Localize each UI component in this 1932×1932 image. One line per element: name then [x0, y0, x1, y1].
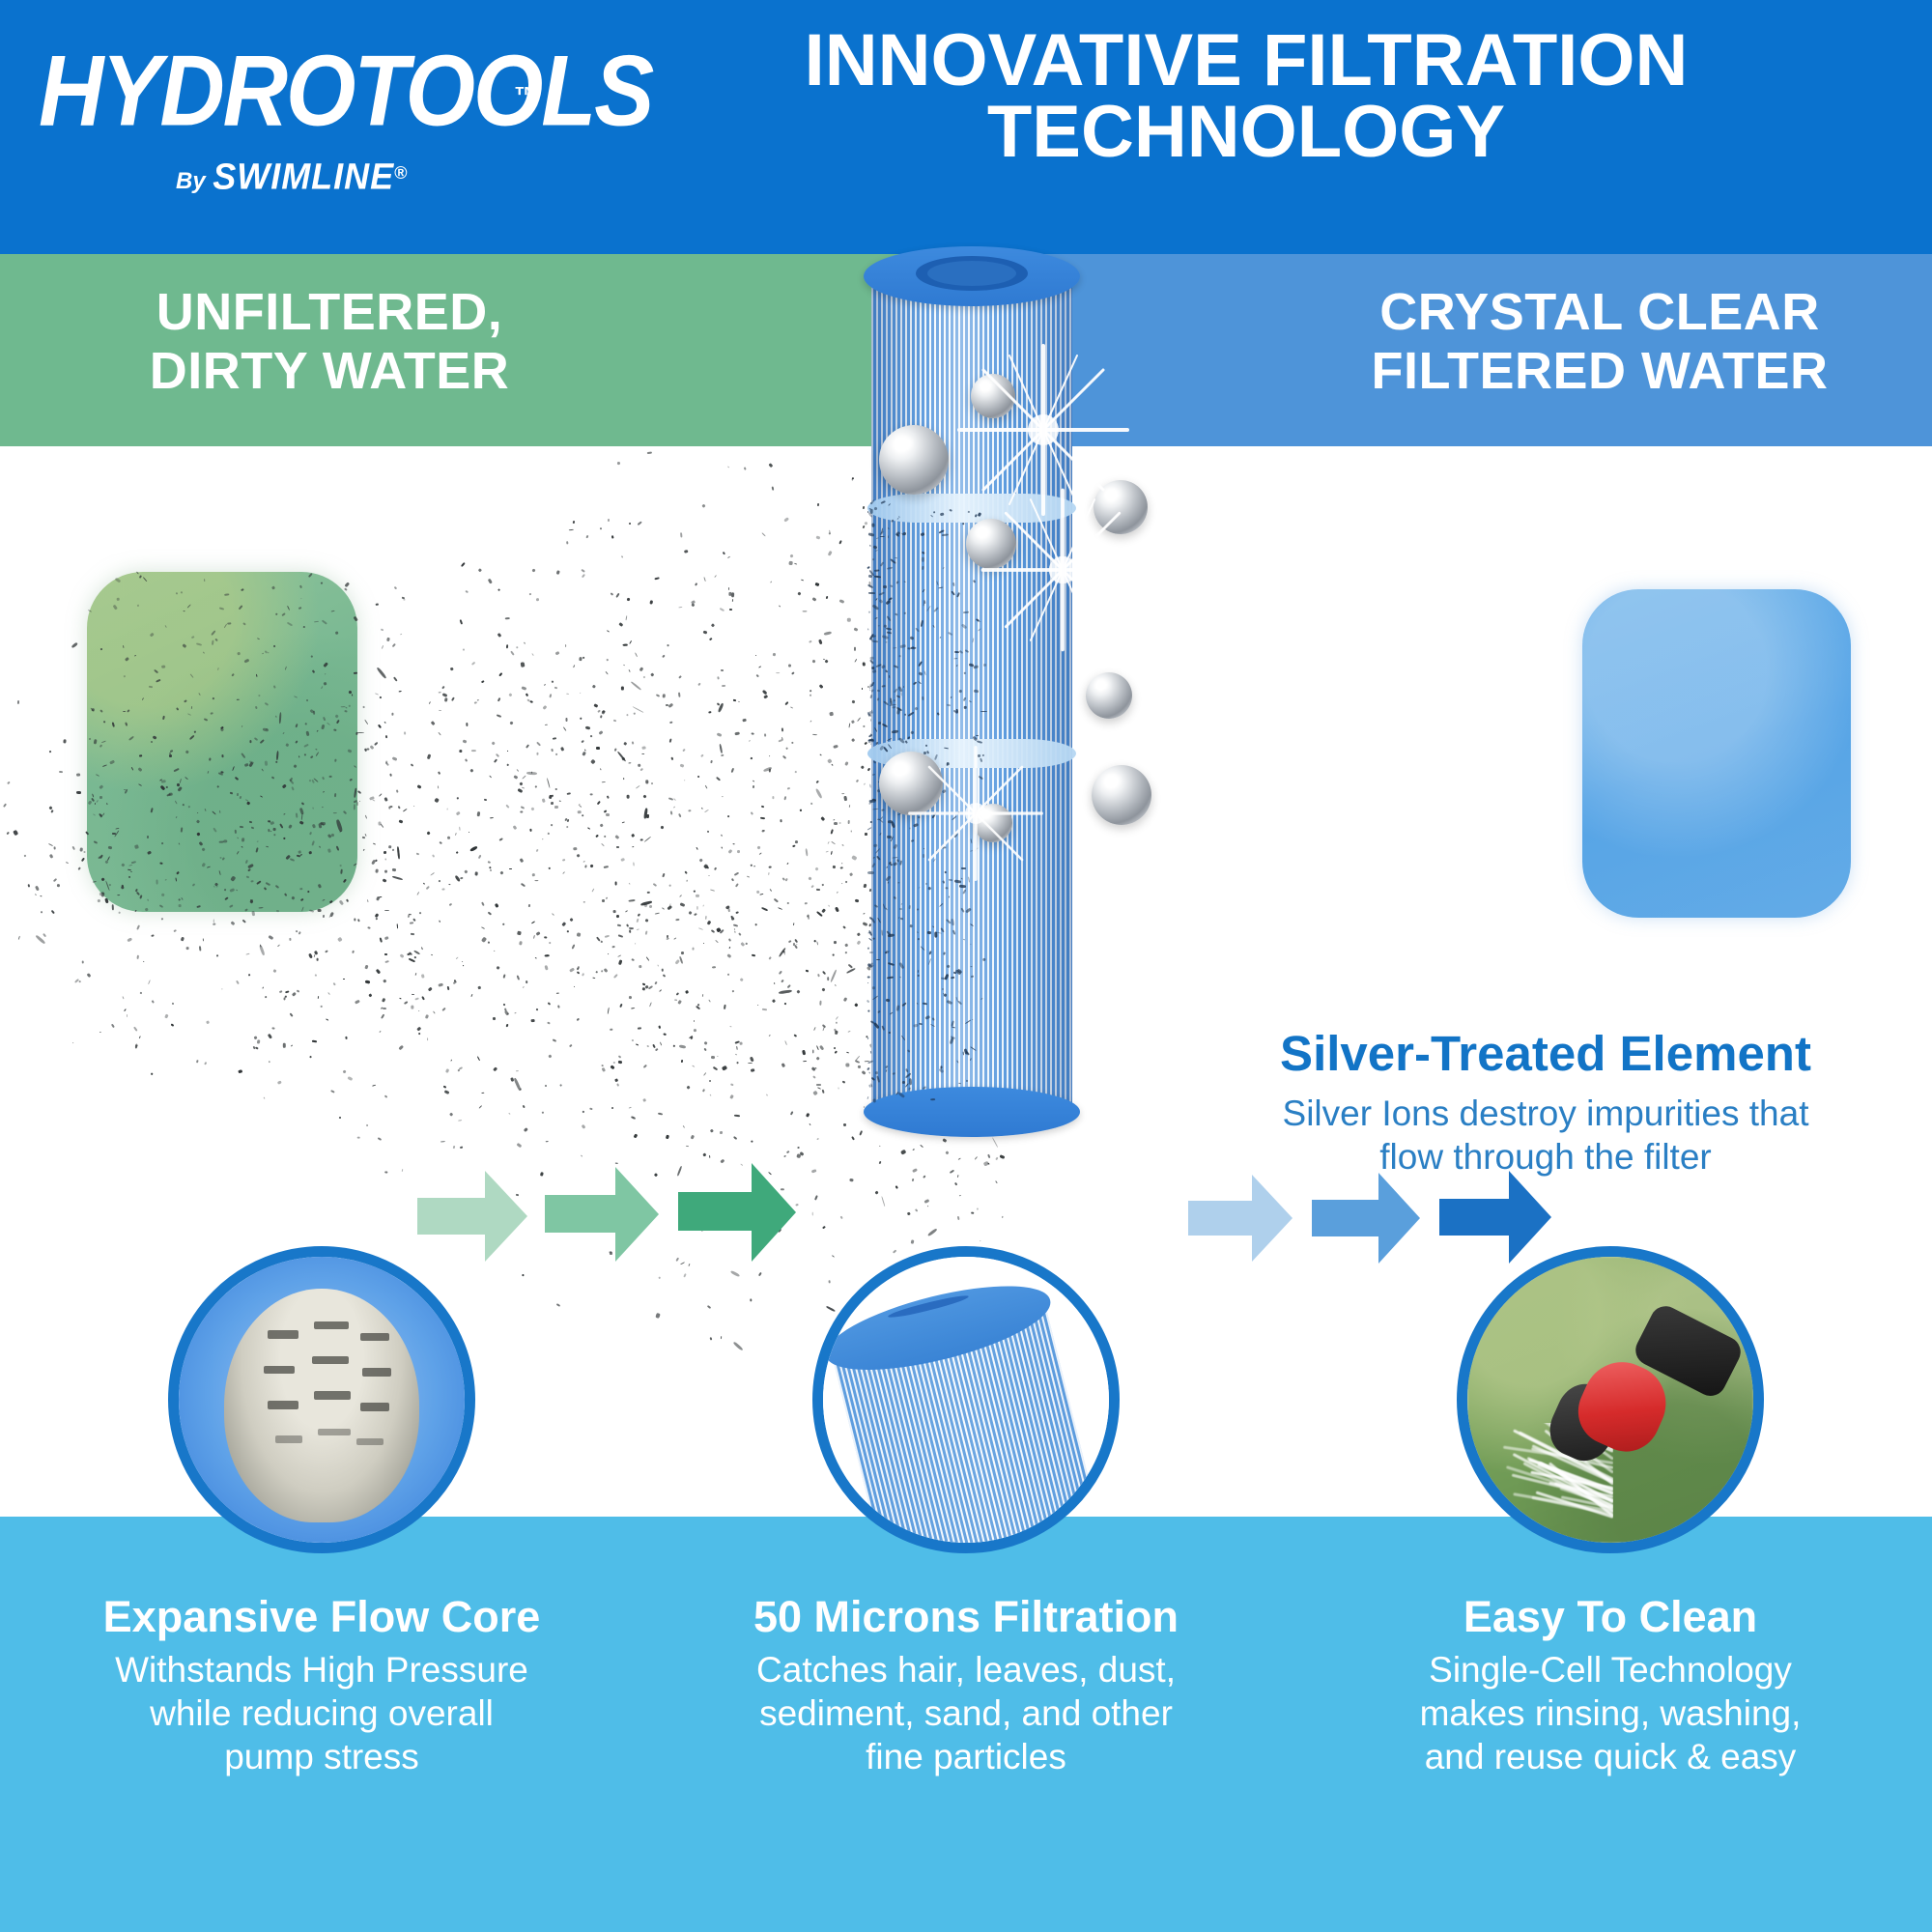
- card-text: 50 Microns Filtration Catches hair, leav…: [644, 1592, 1288, 1778]
- silver-treated-title: Silver-Treated Element: [1198, 1026, 1893, 1082]
- logo-subbrand: By SWIMLINE®: [176, 156, 407, 197]
- card-title: 50 Microns Filtration: [644, 1592, 1288, 1642]
- card-desc-line1: Withstands High Pressure: [0, 1648, 643, 1691]
- hose-photo: [1467, 1257, 1753, 1543]
- silver-desc-line2: flow through the filter: [1198, 1135, 1893, 1179]
- feature-cards: Expansive Flow Core Withstands High Pres…: [0, 1246, 1932, 1932]
- card-desc-line3: pump stress: [0, 1735, 643, 1778]
- silver-ion-bubble: [1086, 672, 1132, 719]
- cartridge-trapped-dirt: [858, 212, 1086, 1178]
- silver-treated-element-block: Silver-Treated Element Silver Ions destr…: [1198, 1026, 1893, 1179]
- core-photo: [179, 1257, 465, 1543]
- card-desc-line2: sediment, sand, and other: [644, 1691, 1288, 1735]
- filtered-label-line2: FILTERED WATER: [1267, 342, 1932, 401]
- silver-ion-bubble: [966, 519, 1016, 569]
- silver-ion-bubble: [879, 752, 943, 815]
- card-description: Catches hair, leaves, dust, sediment, sa…: [644, 1648, 1288, 1778]
- card-title: Expansive Flow Core: [0, 1592, 643, 1642]
- card-desc-line1: Single-Cell Technology: [1289, 1648, 1932, 1691]
- unfiltered-band: UNFILTERED, DIRTY WATER: [0, 254, 978, 446]
- clean-water-swatch: [1582, 589, 1851, 918]
- filter-cartridge-circle-image: [812, 1246, 1120, 1553]
- logo-by-label: By: [176, 168, 206, 194]
- unfiltered-label-line2: DIRTY WATER: [0, 342, 659, 401]
- logo-trademark-icon: ™: [514, 81, 539, 111]
- cartridge-photo: [823, 1257, 1109, 1543]
- unfiltered-label-line1: UNFILTERED,: [0, 283, 659, 342]
- filter-core-circle-image: [168, 1246, 475, 1553]
- unfiltered-band-label: UNFILTERED, DIRTY WATER: [0, 283, 978, 401]
- card-desc-line2: while reducing overall: [0, 1691, 643, 1735]
- page-title: INNOVATIVE FILTRATION TECHNOLOGY: [599, 25, 1893, 168]
- card-description: Withstands High Pressure while reducing …: [0, 1648, 643, 1778]
- filtered-band-label: CRYSTAL CLEAR FILTERED WATER: [978, 283, 1932, 401]
- dirty-water-swatch: [87, 572, 357, 912]
- filter-cartridge-image: [858, 212, 1086, 1178]
- silver-ion-bubble: [879, 425, 949, 495]
- infographic-page: HYDROTOOLS ™ By SWIMLINE® INNOVATIVE FIL…: [0, 0, 1932, 1932]
- silver-ion-bubble: [1094, 480, 1148, 534]
- hose-nozzle-circle-image: [1457, 1246, 1764, 1553]
- core-inner-bore: [224, 1289, 418, 1523]
- card-title: Easy To Clean: [1289, 1592, 1932, 1642]
- silver-desc-line1: Silver Ions destroy impurities that: [1198, 1092, 1893, 1135]
- page-title-line2: TECHNOLOGY: [599, 97, 1893, 168]
- logo-swimline-label: SWIMLINE: [213, 156, 394, 198]
- card-desc-line3: fine particles: [644, 1735, 1288, 1778]
- silver-ion-bubble: [971, 374, 1015, 418]
- silver-treated-description: Silver Ions destroy impurities that flow…: [1198, 1092, 1893, 1179]
- hydrotools-logo: HYDROTOOLS ™ By SWIMLINE®: [39, 39, 541, 213]
- logo-wordmark: HYDROTOOLS: [39, 39, 571, 144]
- card-desc-line3: and reuse quick & easy: [1289, 1735, 1932, 1778]
- logo-registered-icon: ®: [394, 163, 407, 183]
- card-description: Single-Cell Technology makes rinsing, wa…: [1289, 1648, 1932, 1778]
- card-desc-line2: makes rinsing, washing,: [1289, 1691, 1932, 1735]
- page-title-line1: INNOVATIVE FILTRATION: [599, 25, 1893, 97]
- card-text: Expansive Flow Core Withstands High Pres…: [0, 1592, 643, 1778]
- silver-ion-bubble: [1092, 765, 1151, 825]
- filtered-label-line1: CRYSTAL CLEAR: [1267, 283, 1932, 342]
- silver-ion-bubble: [974, 804, 1012, 842]
- card-desc-line1: Catches hair, leaves, dust,: [644, 1648, 1288, 1691]
- filtered-band: CRYSTAL CLEAR FILTERED WATER: [978, 254, 1932, 446]
- card-text: Easy To Clean Single-Cell Technology mak…: [1289, 1592, 1932, 1778]
